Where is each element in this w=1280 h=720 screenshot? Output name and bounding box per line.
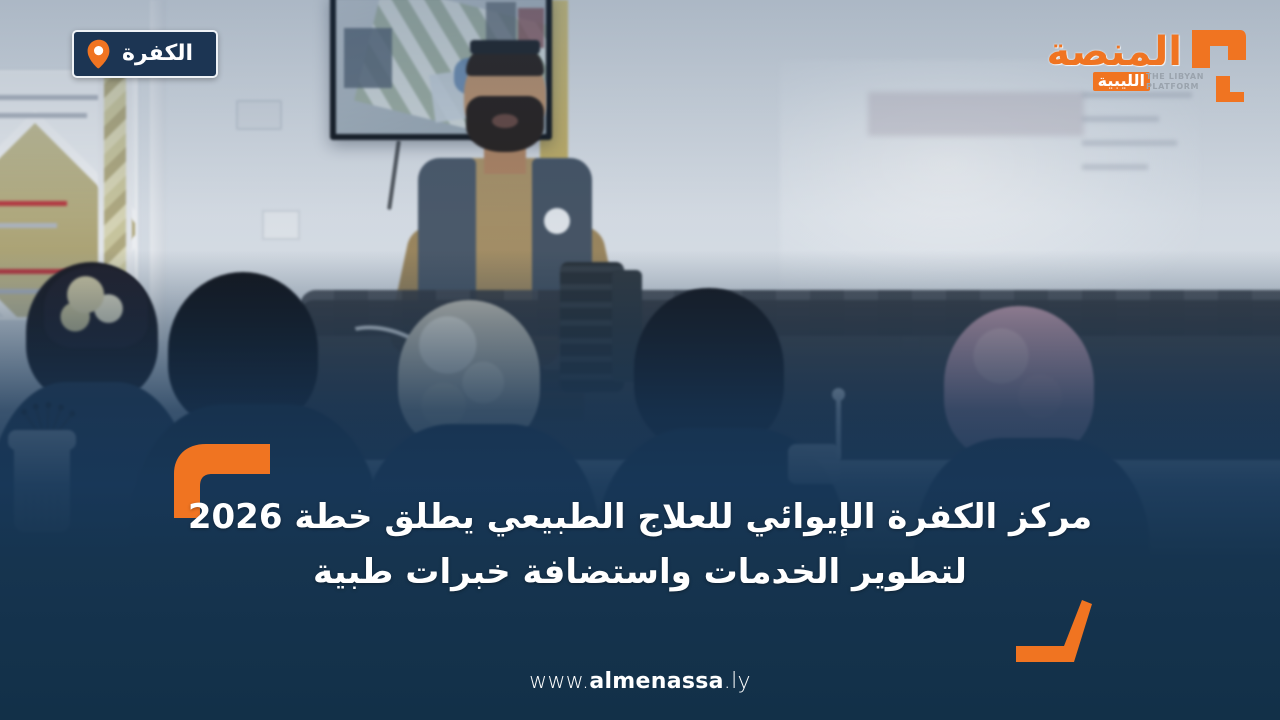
site-logo[interactable]: المنصة الليبية THE LIBYAN PLATFORM xyxy=(1052,14,1248,106)
website-url[interactable]: www.almenassa.ly xyxy=(0,669,1280,694)
logo-arabic-name: المنصة xyxy=(1046,32,1182,72)
news-card: الكفرة المنصة الليبية THE LIBYAN PLATFOR… xyxy=(0,0,1280,720)
headline-line-2: لتطوير الخدمات واستضافة خبرات طبية xyxy=(170,545,1110,600)
corner-bracket-bottom-right-icon xyxy=(1016,600,1092,662)
logo-hook-mark-icon xyxy=(1186,22,1248,104)
map-pin-icon xyxy=(86,39,112,69)
location-badge[interactable]: الكفرة xyxy=(72,30,218,78)
location-badge-label: الكفرة xyxy=(122,43,193,65)
url-prefix: www. xyxy=(529,669,589,694)
logo-arabic-subtitle: الليبية xyxy=(1093,72,1150,91)
url-brand: almenassa xyxy=(589,669,723,694)
url-suffix: .ly xyxy=(724,669,751,694)
headline-line-1: مركز الكفرة الإيوائي للعلاج الطبيعي يطلق… xyxy=(188,497,1092,537)
headline: مركز الكفرة الإيوائي للعلاج الطبيعي يطلق… xyxy=(170,490,1110,600)
